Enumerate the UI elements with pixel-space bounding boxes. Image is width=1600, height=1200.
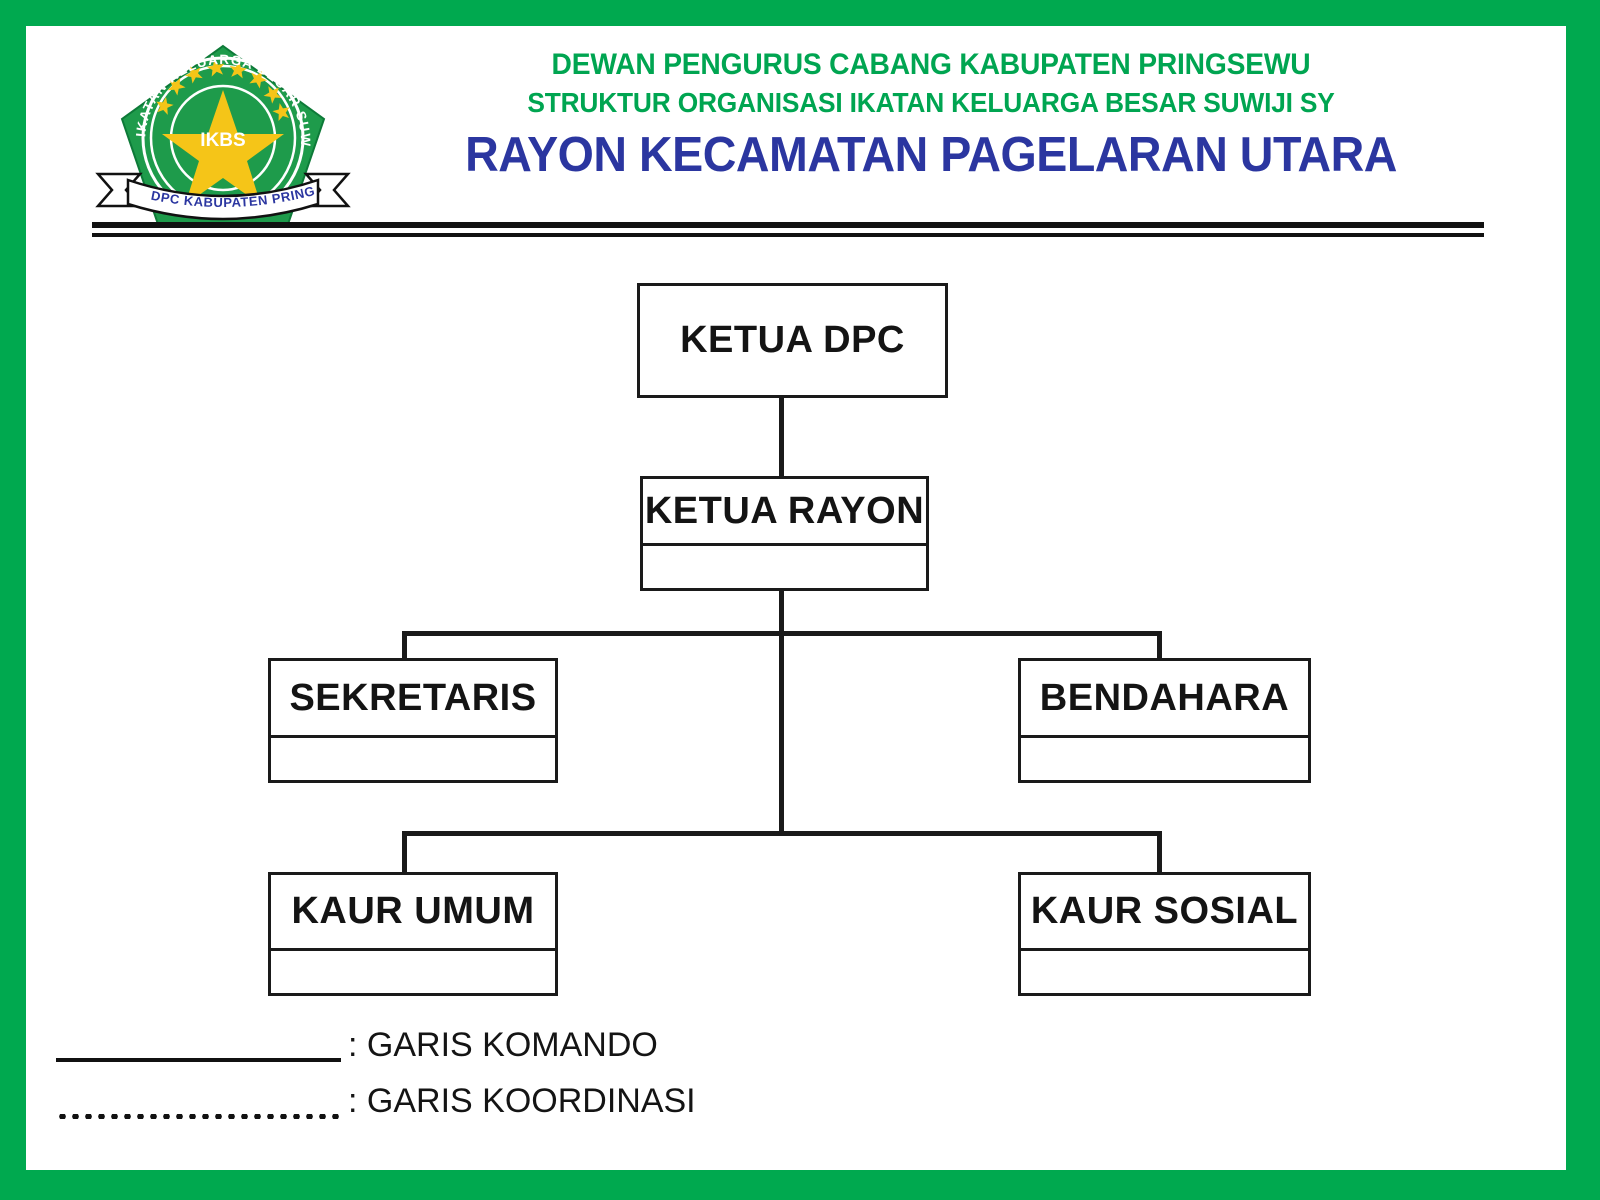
node-ketua-rayon: KETUA RAYON — [640, 476, 929, 591]
legend-row-komando: : GARIS KOMANDO — [56, 1020, 856, 1076]
node-ketua-rayon-title: KETUA RAYON — [643, 479, 926, 543]
node-bendahara-title: BENDAHARA — [1021, 661, 1308, 735]
legend-row-koordinasi: : GARIS KOORDINASI — [56, 1076, 856, 1132]
node-sekretaris-title: SEKRETARIS — [271, 661, 555, 735]
poster-page: IKATAN KELUARGA BESAR SUWIJI SY IKBS DPC… — [0, 0, 1600, 1200]
node-sekretaris-name — [271, 735, 555, 780]
legend-solid-line-sample — [56, 1058, 341, 1062]
edge-drop-sekretaris — [402, 631, 407, 661]
node-bendahara-name — [1021, 735, 1308, 780]
node-sekretaris: SEKRETARIS — [268, 658, 558, 783]
node-kaur-umum: KAUR UMUM — [268, 872, 558, 996]
legend-dotted-line-sample — [56, 1114, 341, 1119]
edge-drop-kaur-sosial — [1157, 831, 1162, 873]
edge-drop-bendahara — [1157, 631, 1162, 661]
node-ketua-dpc-title: KETUA DPC — [640, 286, 945, 395]
node-bendahara: BENDAHARA — [1018, 658, 1311, 783]
node-ketua-rayon-name — [643, 543, 926, 588]
edge-bus-level2 — [402, 631, 1162, 636]
edge-bus-level3 — [402, 831, 1162, 836]
edge-drop-kaur-umum — [402, 831, 407, 873]
edge-dpc-to-rayon — [779, 398, 784, 476]
node-kaur-umum-name — [271, 948, 555, 993]
legend-label-komando: : GARIS KOMANDO — [348, 1026, 658, 1065]
node-kaur-sosial-title: KAUR SOSIAL — [1021, 875, 1308, 948]
node-kaur-umum-title: KAUR UMUM — [271, 875, 555, 948]
node-ketua-dpc: KETUA DPC — [637, 283, 948, 398]
edge-rayon-trunk — [779, 591, 784, 834]
chart-legend: : GARIS KOMANDO : GARIS KOORDINASI — [56, 1020, 856, 1132]
node-kaur-sosial: KAUR SOSIAL — [1018, 872, 1311, 996]
node-kaur-sosial-name — [1021, 948, 1308, 993]
legend-label-koordinasi: : GARIS KOORDINASI — [348, 1082, 696, 1121]
